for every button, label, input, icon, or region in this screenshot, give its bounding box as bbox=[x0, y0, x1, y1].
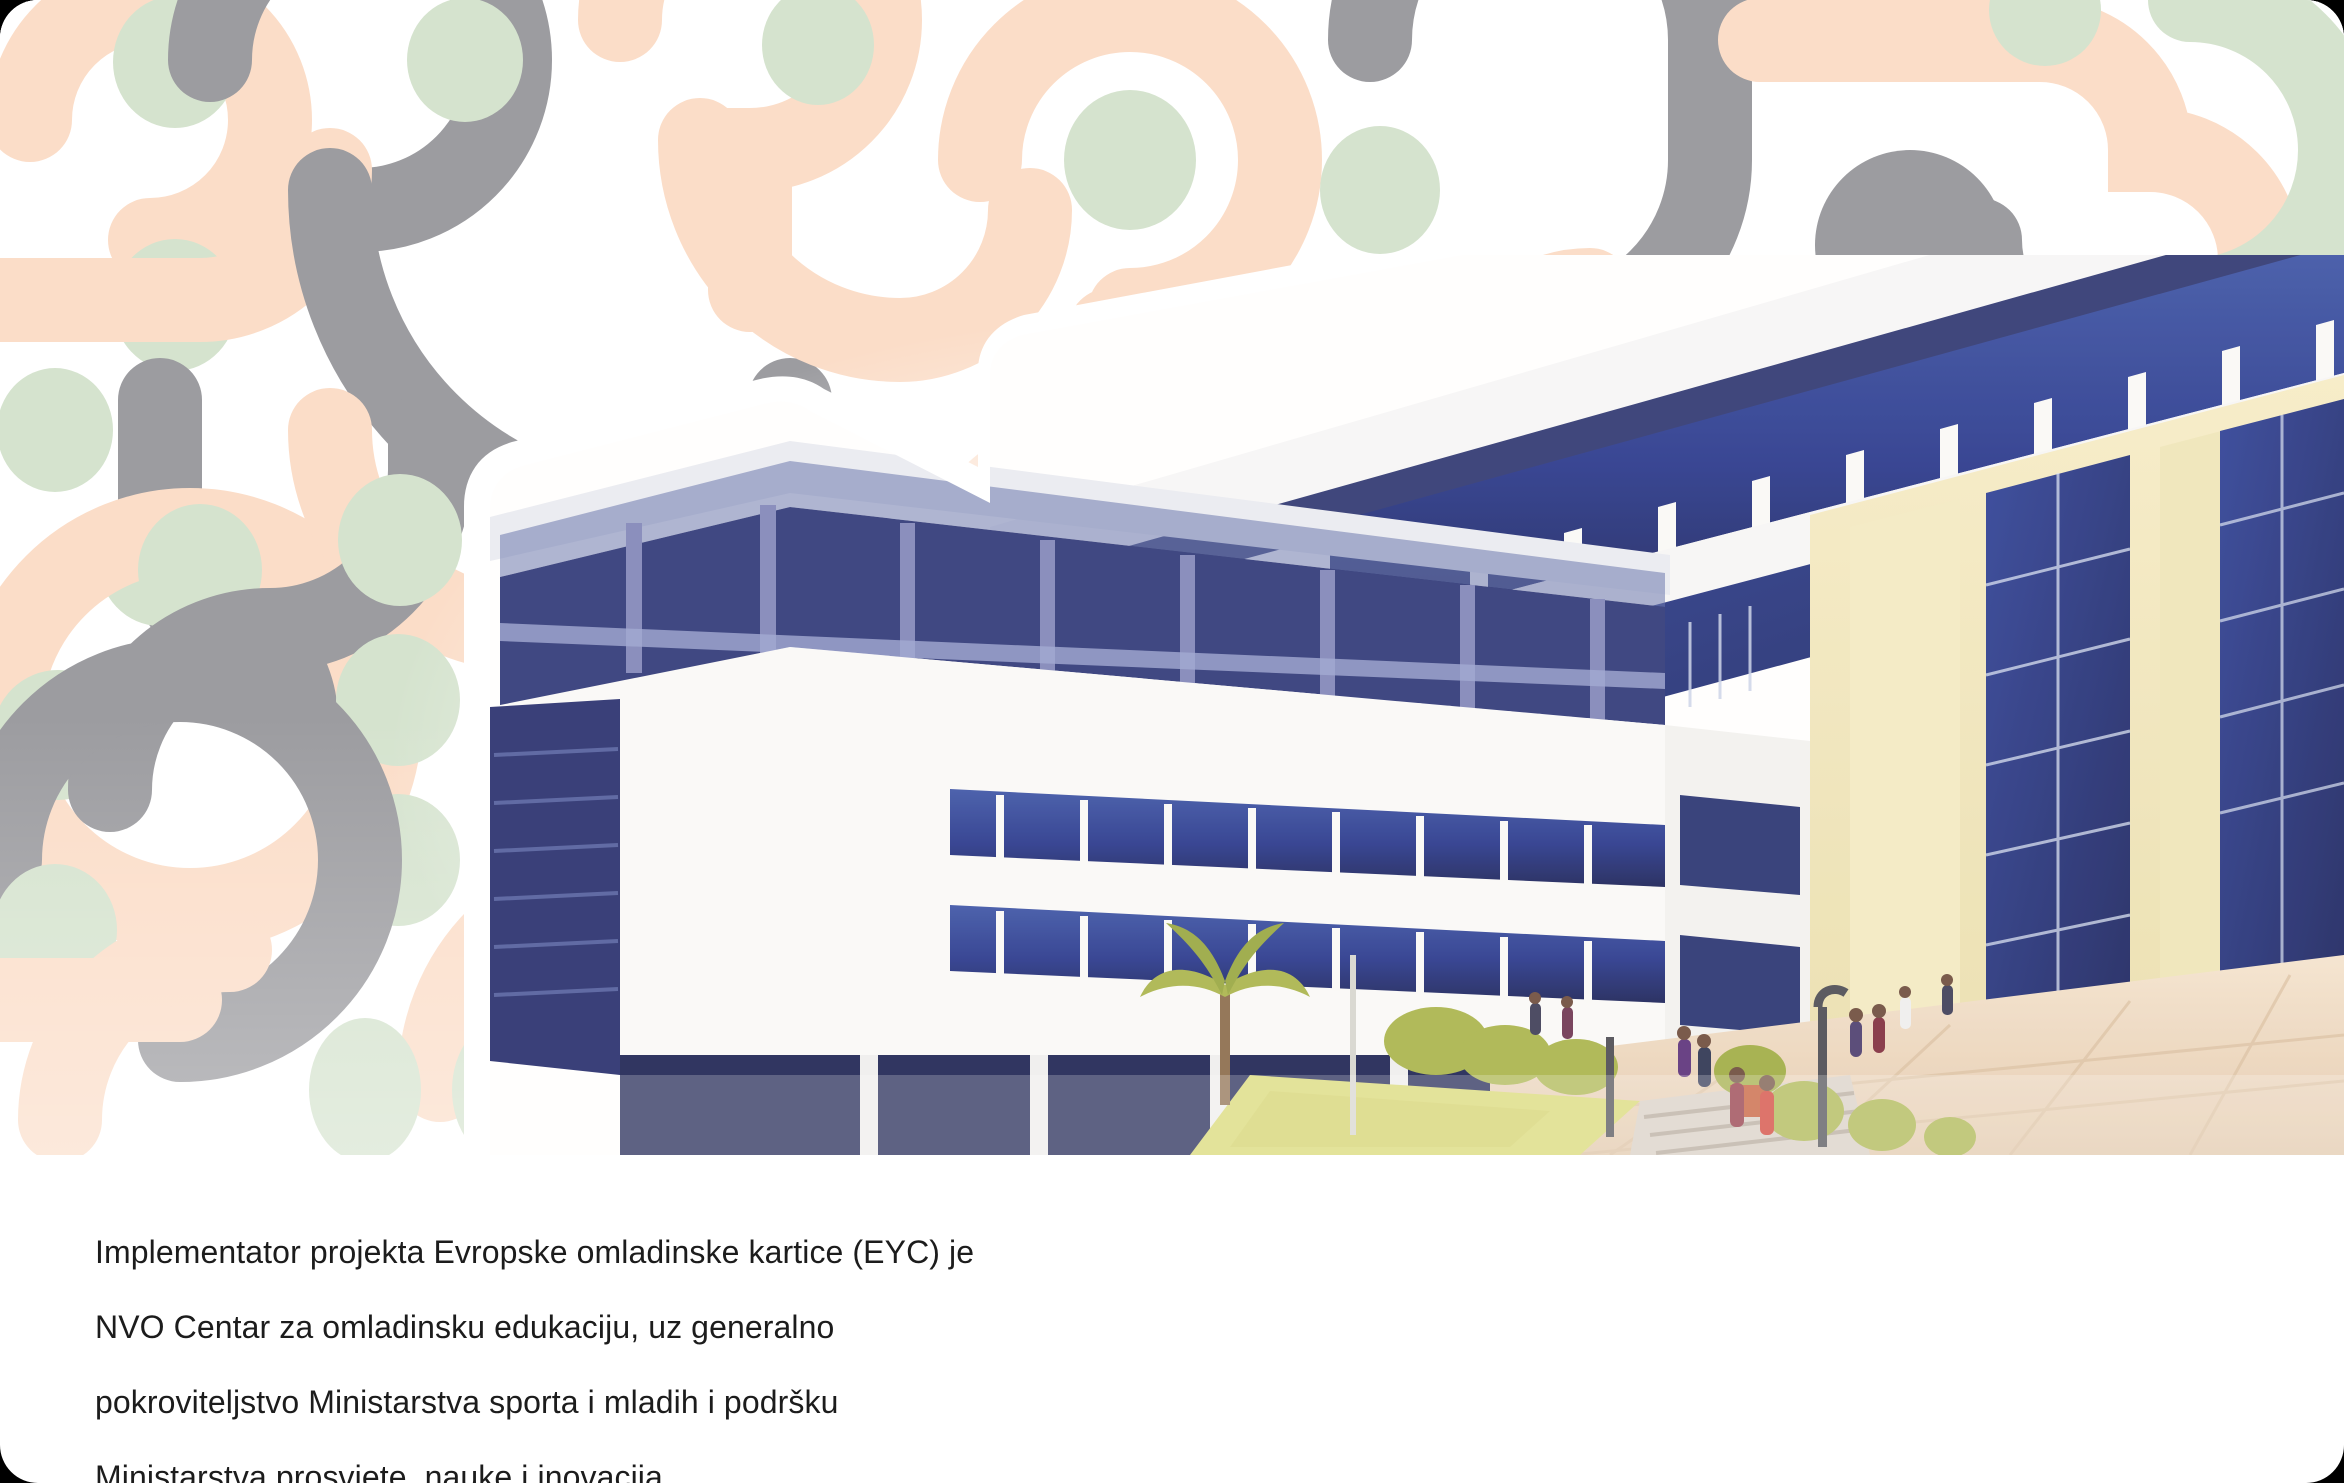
caption-line-2: NVO Centar za omladinsku edukaciju, uz g… bbox=[95, 1309, 1695, 1347]
caption-line-3: pokroviteljstvo Ministarstva sporta i ml… bbox=[95, 1384, 1695, 1422]
slide-card: .pk{fill:none;stroke:#FBDDC8;stroke-widt… bbox=[0, 0, 2344, 1483]
photo-svg bbox=[430, 255, 2344, 1155]
caption-line-1: Implementator projekta Evropske omladins… bbox=[95, 1234, 1695, 1272]
caption-line-4: Ministarstva prosvjete, nauke i inovacij… bbox=[95, 1459, 1695, 1483]
caption-text: Implementator projekta Evropske omladins… bbox=[95, 1196, 1695, 1483]
university-building-photo bbox=[430, 255, 2344, 1155]
